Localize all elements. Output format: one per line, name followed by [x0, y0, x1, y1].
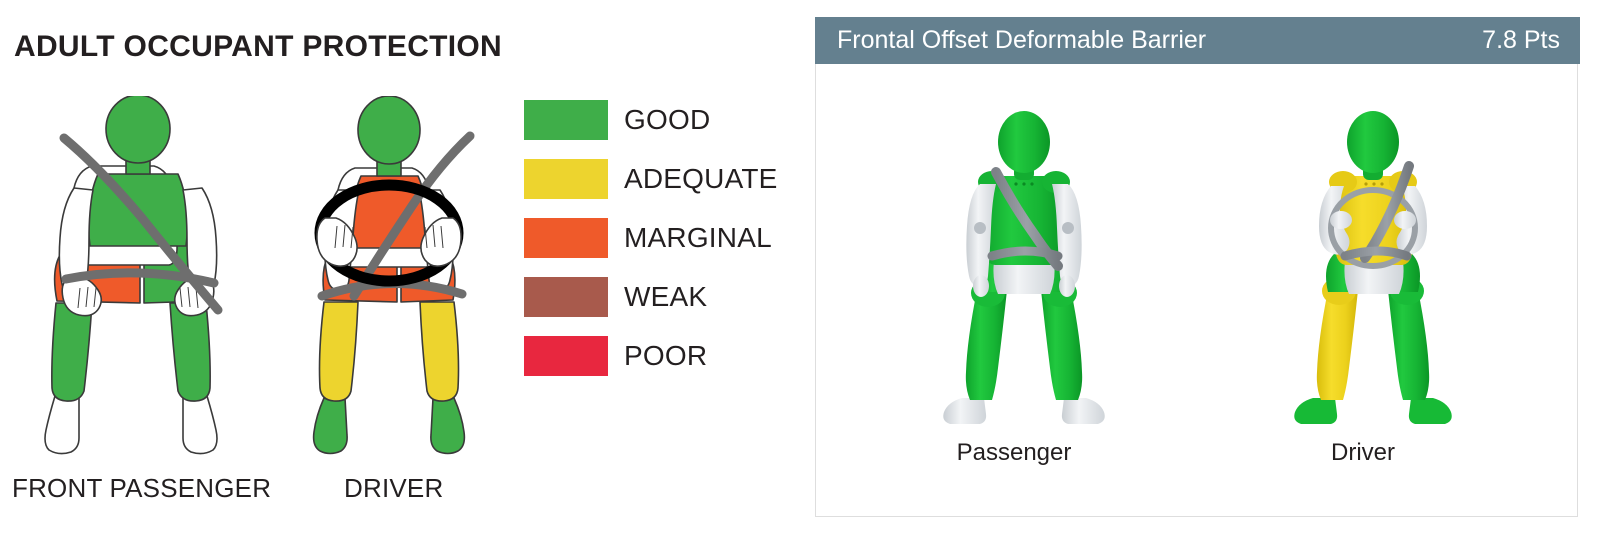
front-passenger-caption: FRONT PASSENGER — [12, 473, 271, 504]
passenger-dummy-right-shoe — [1062, 398, 1105, 424]
passenger-dummy-left-elbow — [974, 222, 986, 234]
driver-dummy-left-lower-leg — [1317, 290, 1358, 400]
legend-label-poor: POOR — [624, 335, 707, 375]
passenger-dummy-caption: Passenger — [904, 439, 1124, 467]
driver-left-lower-leg — [320, 302, 359, 401]
legend-row-adequate: ADEQUATE — [524, 159, 794, 212]
passenger-right-lower-leg — [170, 303, 210, 401]
legend-label-good: GOOD — [624, 99, 710, 139]
driver-dummy-image — [1283, 110, 1463, 430]
legend-swatch-marginal — [524, 218, 608, 258]
panel-header: Frontal Offset Deformable Barrier 7.8 Pt… — [815, 17, 1580, 64]
driver-right-foot — [431, 398, 465, 454]
front-passenger-figure — [22, 96, 272, 456]
legend-label-weak: WEAK — [624, 276, 707, 316]
passenger-dummy-head — [998, 111, 1050, 173]
driver-dummy-head — [1347, 111, 1399, 173]
passenger-dummy-image — [934, 110, 1114, 430]
driver-dummy-right-lower-leg — [1388, 290, 1429, 400]
page-title: ADULT OCCUPANT PROTECTION — [14, 30, 502, 64]
passenger-head — [106, 96, 170, 163]
legend-swatch-adequate — [524, 159, 608, 199]
legend-swatch-poor — [524, 336, 608, 376]
legend-row-marginal: MARGINAL — [524, 218, 794, 271]
driver-dummy-caption: Driver — [1253, 439, 1473, 467]
driver-dummy-render — [1283, 110, 1463, 430]
frontal-offset-test-panel: Frontal Offset Deformable Barrier 7.8 Pt… — [815, 17, 1580, 519]
legend-row-poor: POOR — [524, 336, 794, 389]
driver-figure — [292, 96, 510, 456]
passenger-dummy-left-hand — [973, 275, 989, 297]
panel-header-points: 7.8 Pts — [1482, 17, 1560, 64]
passenger-dummy-right-hand — [1059, 275, 1075, 297]
legend-label-marginal: MARGINAL — [624, 217, 772, 257]
front-passenger-body-diagram — [22, 96, 272, 456]
legend-label-adequate: ADEQUATE — [624, 158, 778, 198]
passenger-dummy-right-elbow — [1062, 222, 1074, 234]
driver-right-lower-leg — [420, 302, 459, 401]
passenger-left-foot — [45, 396, 79, 454]
driver-caption: DRIVER — [344, 473, 443, 504]
rating-legend: GOOD ADEQUATE MARGINAL WEAK POOR — [524, 100, 794, 395]
driver-dummy-left-shoe — [1294, 398, 1337, 424]
passenger-right-foot — [183, 396, 217, 454]
passenger-dummy-render — [934, 110, 1114, 430]
legend-row-good: GOOD — [524, 100, 794, 153]
panel-body: Passenger — [815, 64, 1578, 517]
adult-occupant-protection-section: ADULT OCCUPANT PROTECTION — [0, 0, 800, 550]
driver-dummy-right-shoe — [1409, 398, 1452, 424]
legend-swatch-good — [524, 100, 608, 140]
driver-dummy-left-hand — [1330, 211, 1352, 229]
driver-body-diagram — [292, 96, 510, 456]
passenger-dummy-left-shoe — [943, 398, 986, 424]
driver-left-foot — [314, 398, 348, 454]
legend-swatch-weak — [524, 277, 608, 317]
driver-dummy-lap-belt — [1345, 251, 1407, 256]
legend-row-weak: WEAK — [524, 277, 794, 330]
driver-dummy-right-hand — [1394, 211, 1416, 229]
driver-head — [358, 96, 420, 164]
passenger-dummy-lap-belt — [992, 251, 1058, 256]
passenger-left-lower-leg — [52, 303, 92, 401]
panel-header-title: Frontal Offset Deformable Barrier — [837, 17, 1206, 64]
